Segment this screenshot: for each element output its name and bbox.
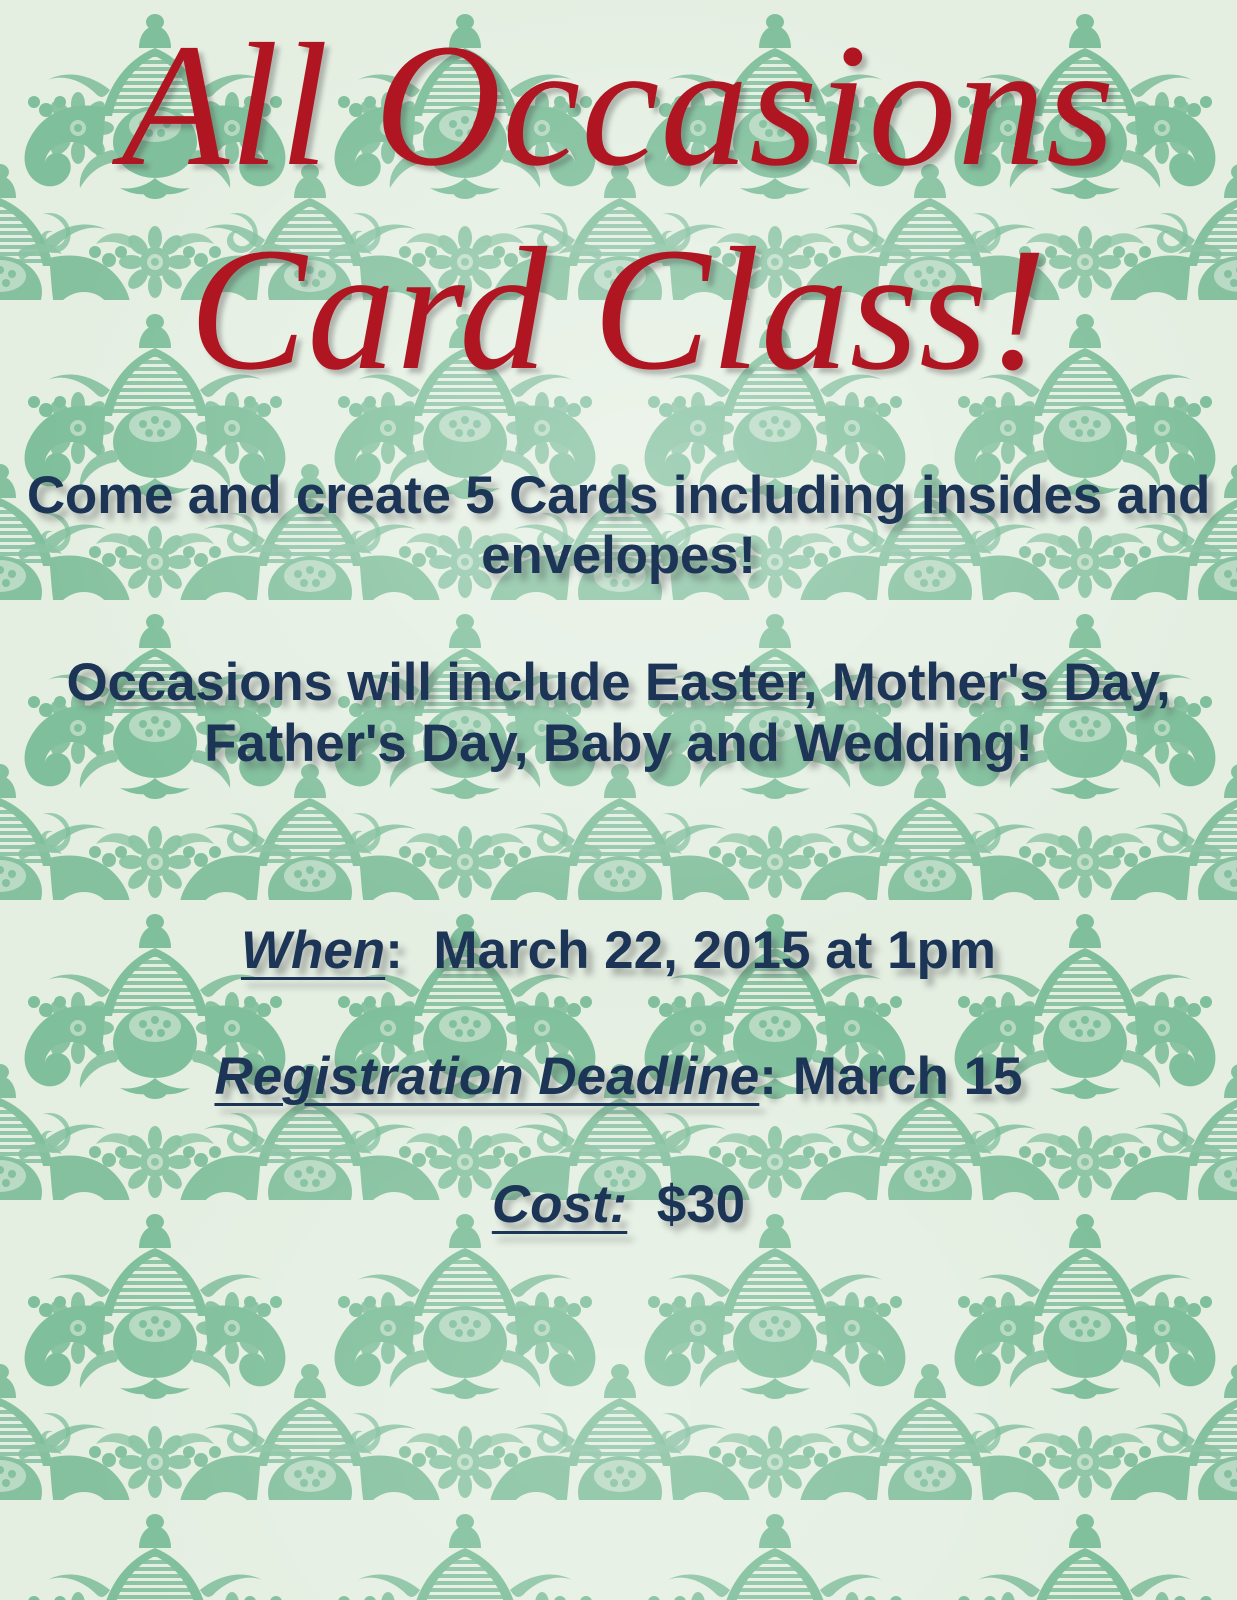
occasions-paragraph: Occasions will include Easter, Mother's … [0, 652, 1237, 775]
detail-deadline-label: Registration Deadline [214, 1047, 759, 1106]
detail-deadline: Registration Deadline: March 15 [0, 1048, 1237, 1106]
detail-when: When: March 22, 2015 at 1pm [0, 922, 1237, 980]
detail-when-value: March 22, 2015 at 1pm [433, 921, 996, 980]
detail-when-label: When [241, 921, 385, 980]
detail-cost: Cost: $30 [0, 1176, 1237, 1234]
detail-cost-label: Cost: [492, 1175, 627, 1234]
detail-deadline-separator: : [759, 1047, 778, 1106]
intro-paragraph: Come and create 5 Cards including inside… [0, 466, 1237, 587]
flyer-content: All Occasions Card Class! Come and creat… [0, 0, 1237, 1600]
detail-deadline-value: March 15 [793, 1047, 1023, 1106]
flyer-poster: All Occasions Card Class! Come and creat… [0, 0, 1237, 1600]
detail-when-separator: : [385, 921, 404, 980]
page-title-line-1: All Occasions [0, 18, 1237, 194]
page-title-line-2: Card Class! [0, 222, 1237, 398]
detail-cost-value: $30 [657, 1175, 745, 1234]
